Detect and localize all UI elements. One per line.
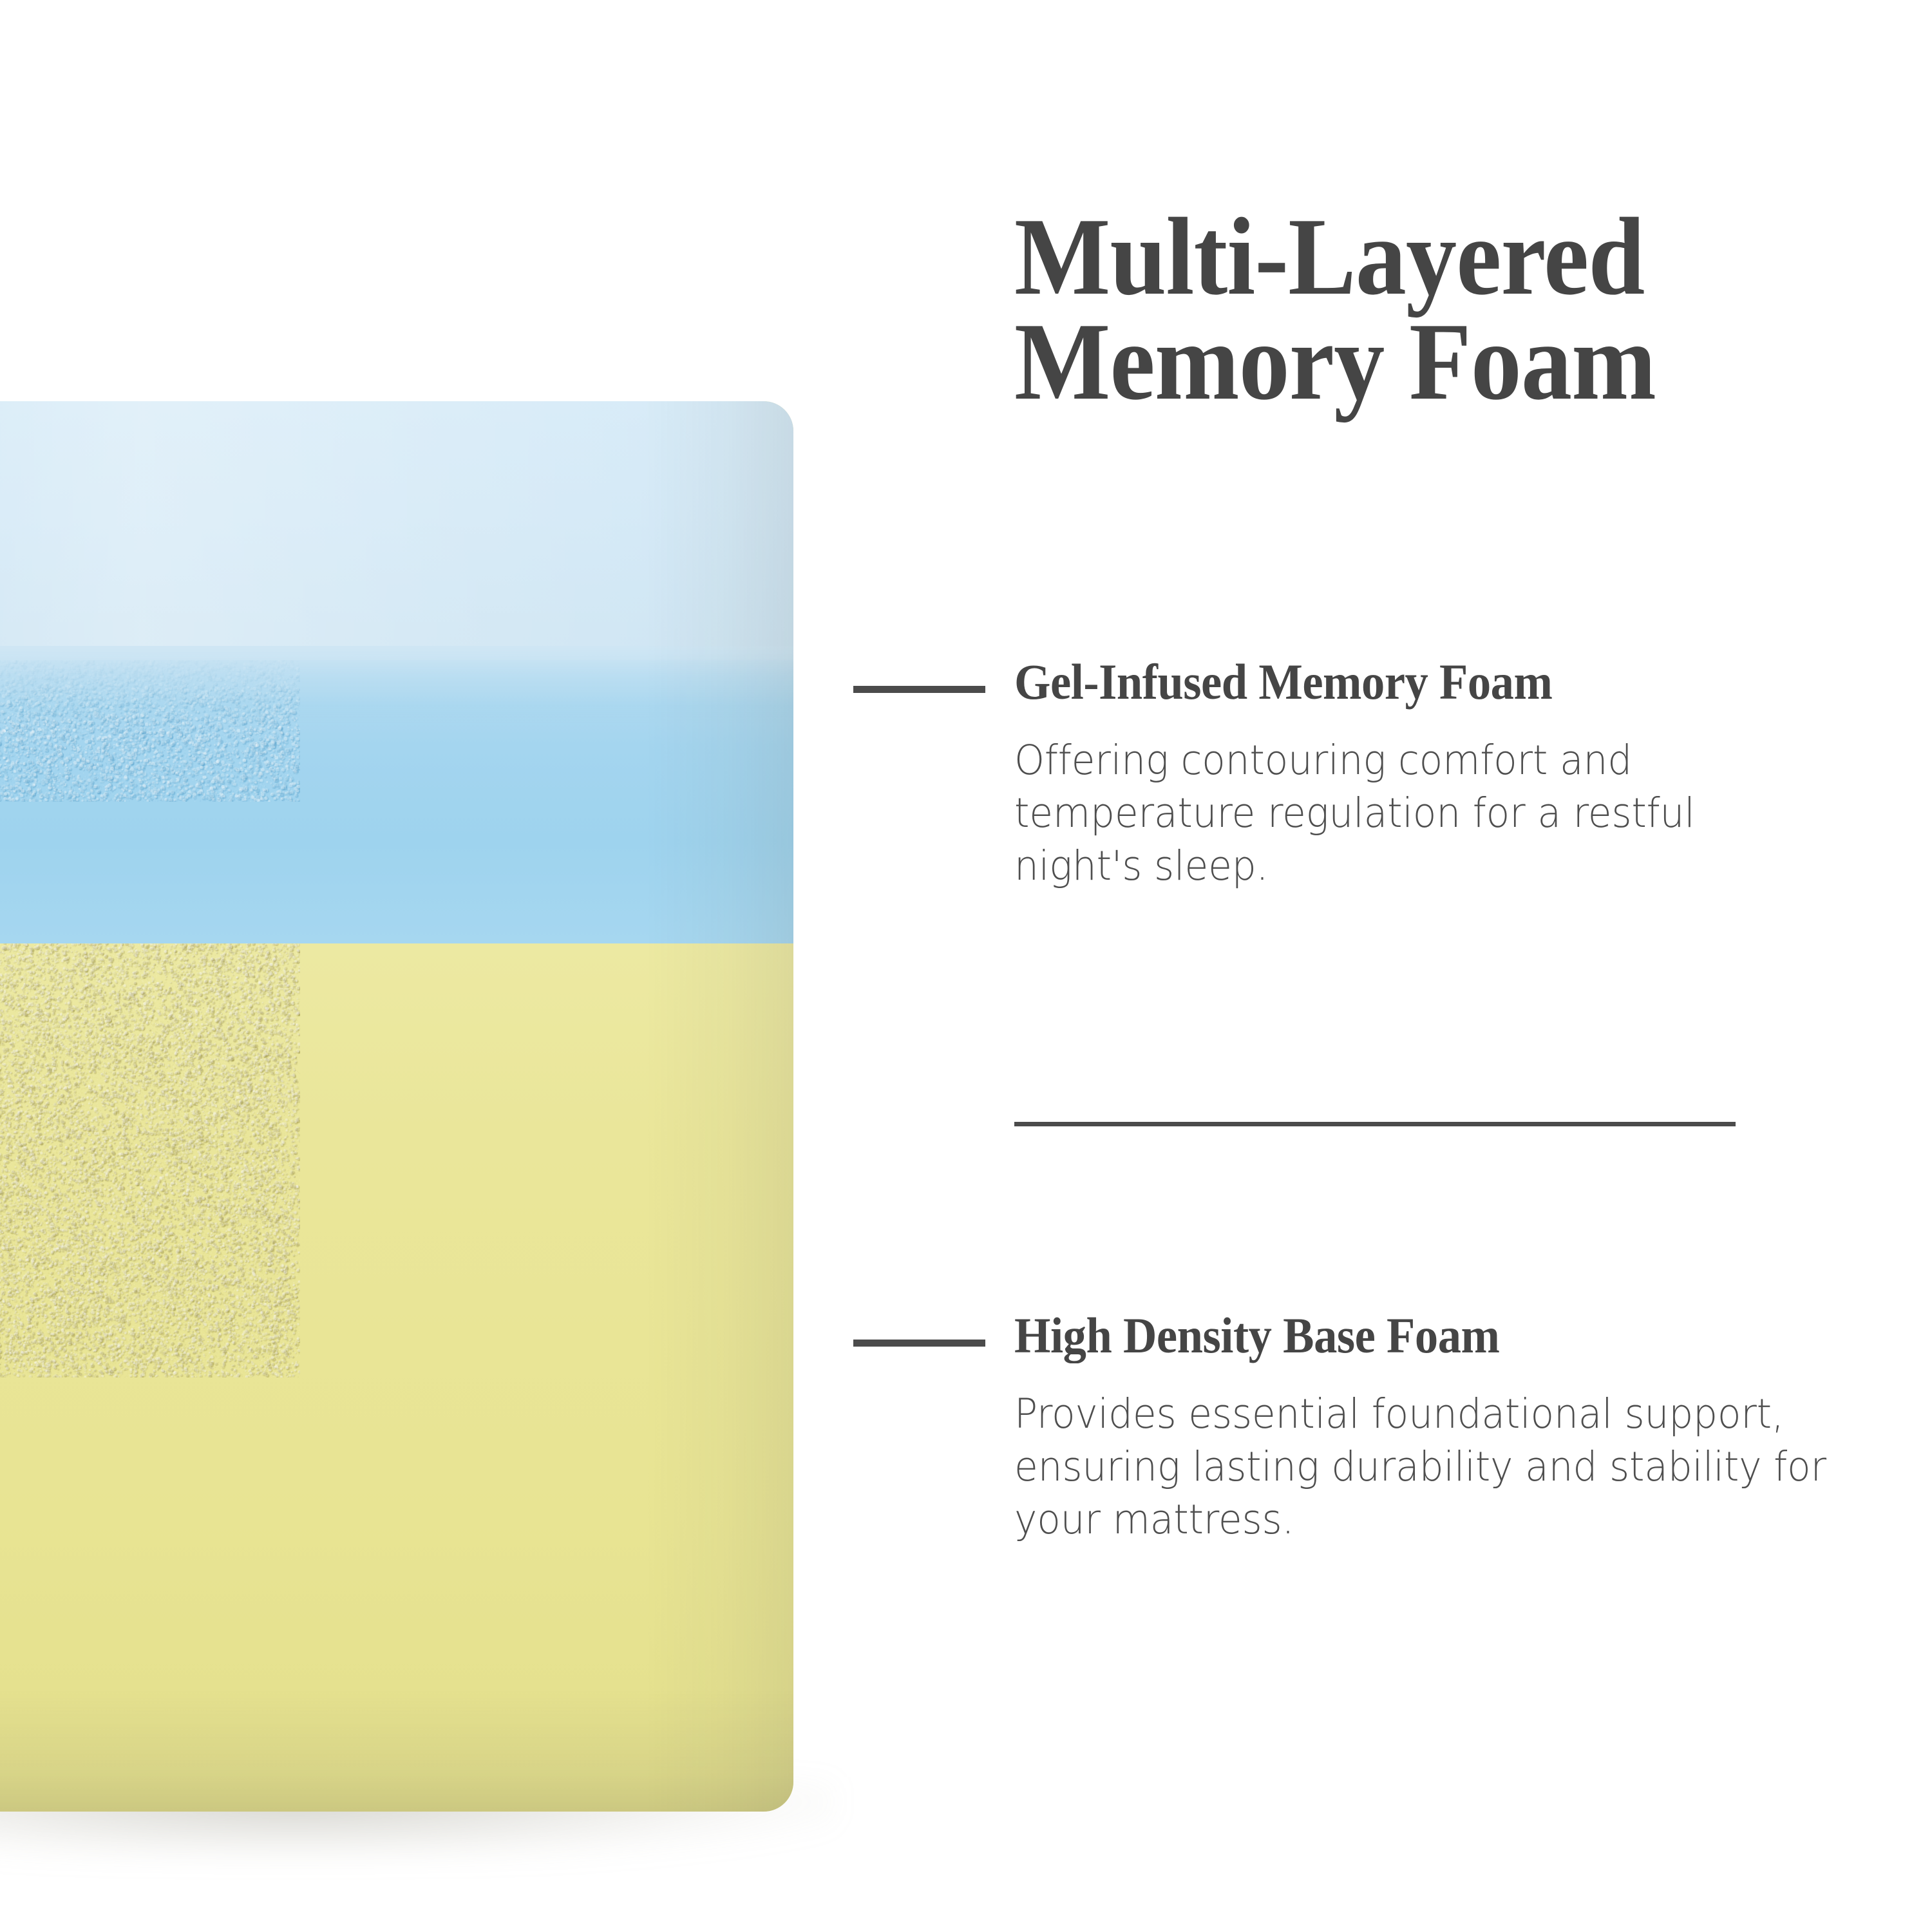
dash-marker-icon bbox=[853, 1340, 985, 1347]
foam-block bbox=[0, 401, 793, 1812]
content-column: Multi-LayeredMemory Foam Gel-Infused Mem… bbox=[1014, 0, 1871, 1932]
product-image bbox=[0, 0, 902, 1932]
foam-edge-shading bbox=[645, 401, 793, 1812]
dash-marker-icon bbox=[853, 686, 985, 693]
page-title-line-2: Memory Foam bbox=[1014, 301, 1656, 423]
layer-callout-gel-infused-memory-foam: Gel-Infused Memory Foam Offering contour… bbox=[1014, 656, 1871, 893]
layer-heading: Gel-Infused Memory Foam bbox=[1014, 656, 1552, 708]
foam-bottom-shading bbox=[0, 1689, 793, 1812]
layer-callout-high-density-base-foam: High Density Base Foam Provides essentia… bbox=[1014, 1309, 1871, 1546]
layer-description: Offering contouring comfort and temperat… bbox=[1014, 723, 1828, 893]
page-title-line-1: Multi-Layered bbox=[1014, 196, 1644, 318]
section-divider bbox=[1014, 1122, 1736, 1126]
base-foam-pore-texture bbox=[0, 943, 300, 1378]
layer-description: Provides essential foundational support,… bbox=[1014, 1376, 1828, 1546]
page-title: Multi-LayeredMemory Foam bbox=[1014, 205, 1808, 415]
layer-callout-header: Gel-Infused Memory Foam bbox=[1014, 656, 1871, 723]
layer-callout-header: High Density Base Foam bbox=[1014, 1309, 1871, 1376]
layer-heading: High Density Base Foam bbox=[1014, 1309, 1499, 1362]
